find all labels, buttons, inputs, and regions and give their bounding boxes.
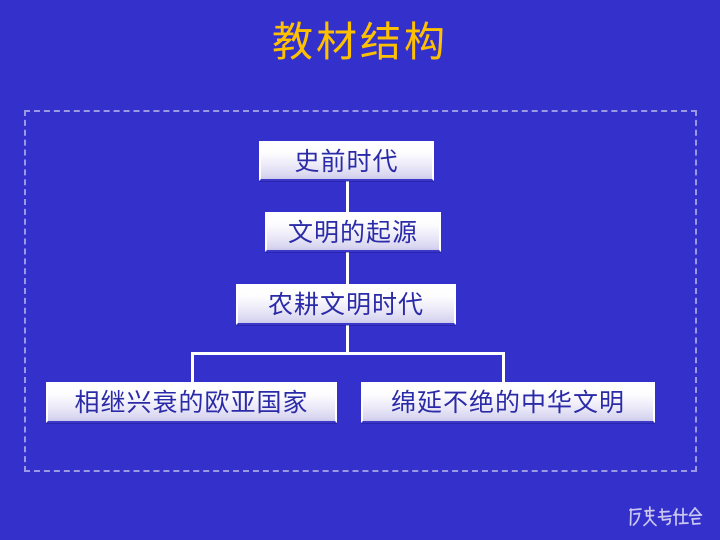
diagram-node-prehistoric-era[interactable]: 史前时代 — [259, 141, 434, 181]
connector-horizontal-bus — [191, 352, 505, 355]
connector-bus-n5 — [502, 352, 505, 383]
diagram-node-origin-of-civilization[interactable]: 文明的起源 — [265, 212, 441, 252]
diagram-node-eurasian-states[interactable]: 相继兴衰的欧亚国家 — [46, 382, 337, 423]
connector-bus-n4 — [191, 352, 194, 383]
connector-n1-n2 — [346, 180, 349, 213]
slide-canvas: 教材结构 史前时代 文明的起源 农耕文明时代 相继兴衰的欧亚国家 绵延不绝的中华… — [0, 0, 720, 540]
connector-n3-bus — [346, 324, 349, 355]
watermark-logo — [627, 503, 707, 533]
connector-n2-n3 — [346, 251, 349, 285]
diagram-node-agricultural-civilization-era[interactable]: 农耕文明时代 — [236, 284, 456, 325]
diagram-node-chinese-civilization[interactable]: 绵延不绝的中华文明 — [361, 382, 655, 423]
structure-diagram: 史前时代 文明的起源 农耕文明时代 相继兴衰的欧亚国家 绵延不绝的中华文明 — [0, 0, 720, 540]
